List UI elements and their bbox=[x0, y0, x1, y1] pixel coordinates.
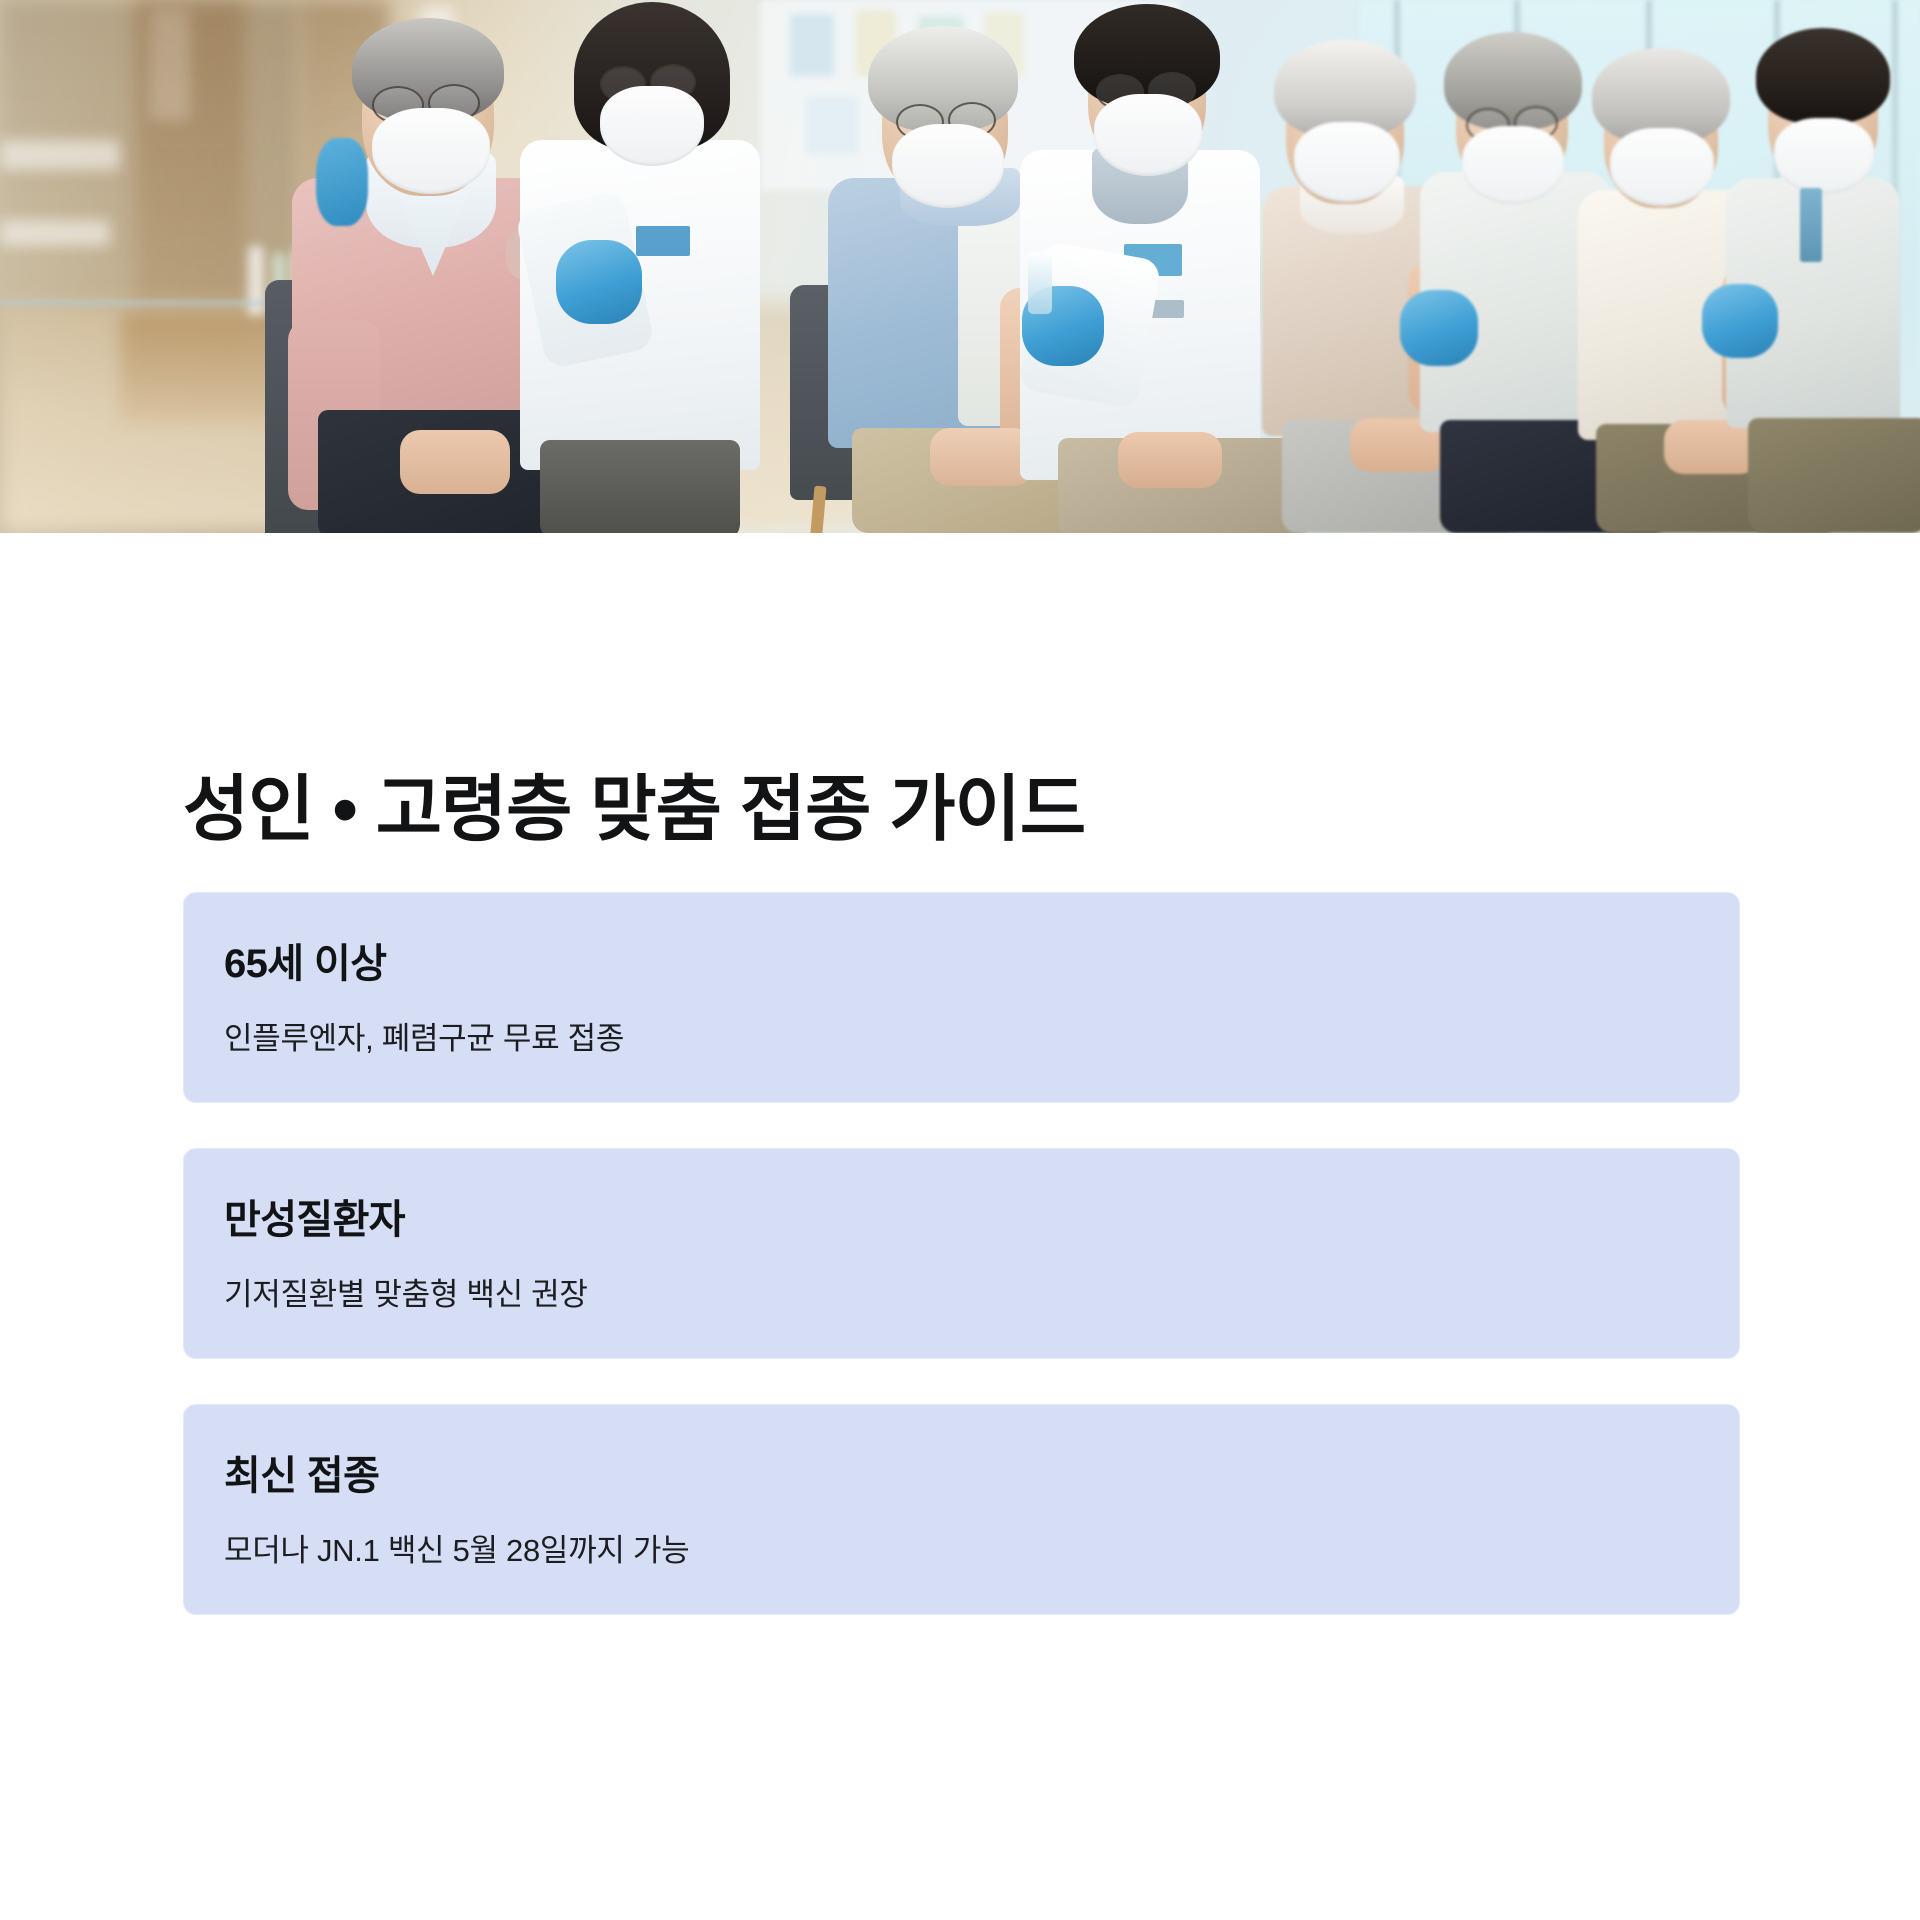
guide-card-2-description: 기저질환별 맞춤형 백신 권장 bbox=[224, 1274, 1699, 1316]
infographic-page: 성인 • 고령층 맞춤 접종 가이드 65세 이상 인플루엔자, 폐렴구균 무료… bbox=[0, 0, 1920, 1920]
hero-image bbox=[0, 0, 1920, 533]
nurse-1-legs bbox=[540, 440, 740, 533]
guide-card-1-title: 65세 이상 bbox=[224, 940, 1699, 988]
patient-3-mask bbox=[1294, 122, 1400, 202]
patient-2-resting-hand bbox=[930, 428, 1034, 486]
background-pharmacy-box-1 bbox=[790, 14, 834, 76]
guide-card-1-description: 인플루엔자, 폐렴구균 무료 접종 bbox=[224, 1018, 1699, 1060]
patient-1-mask bbox=[372, 108, 490, 194]
nurse-3-tie bbox=[1800, 188, 1822, 262]
guide-card-2-title: 만성질환자 bbox=[224, 1196, 1699, 1244]
nurse-1-id-badge bbox=[636, 226, 690, 256]
patient-2-mask bbox=[892, 124, 1004, 208]
guide-card-3-title: 최신 접종 bbox=[224, 1452, 1699, 1500]
nurse-3-legs bbox=[1748, 418, 1920, 533]
nurse-3-glove bbox=[1702, 284, 1778, 358]
nurse-2-hair bbox=[1444, 32, 1582, 130]
patient-4-resting-hand bbox=[1664, 420, 1760, 474]
guide-card-3[interactable]: 최신 접종 모더나 JN.1 백신 5월 28일까지 가능 bbox=[183, 1404, 1740, 1615]
guide-card-list: 65세 이상 인플루엔자, 폐렴구균 무료 접종 만성질환자 기저질환별 맞춤형… bbox=[183, 892, 1740, 1615]
patient-1-shoulder-glove-mark bbox=[316, 138, 368, 226]
guide-card-1[interactable]: 65세 이상 인플루엔자, 폐렴구균 무료 접종 bbox=[183, 892, 1740, 1103]
nurse-1-glove bbox=[556, 240, 642, 324]
page-title: 성인 • 고령층 맞춤 접종 가이드 bbox=[183, 771, 1085, 850]
nurse-2-glove bbox=[1400, 290, 1478, 366]
background-pharmacy-box-5 bbox=[806, 96, 858, 154]
guide-card-2[interactable]: 만성질환자 기저질환별 맞춤형 백신 권장 bbox=[183, 1148, 1740, 1359]
doctor-resting-hand bbox=[1118, 432, 1222, 488]
patient-1-resting-hand bbox=[400, 430, 510, 494]
doctor-syringe bbox=[1028, 252, 1052, 314]
nurse-3-hair bbox=[1756, 28, 1890, 124]
nurse-1-mask bbox=[600, 86, 704, 166]
nurse-2-mask bbox=[1462, 126, 1564, 204]
patient-4-mask bbox=[1610, 128, 1714, 206]
doctor-mask bbox=[1094, 94, 1202, 176]
background-shelf-panel-4 bbox=[0, 220, 110, 246]
nurse-3-mask bbox=[1774, 118, 1874, 194]
guide-card-3-description: 모더나 JN.1 백신 5월 28일까지 가능 bbox=[224, 1530, 1699, 1572]
background-shelf-panel-3 bbox=[0, 140, 120, 170]
